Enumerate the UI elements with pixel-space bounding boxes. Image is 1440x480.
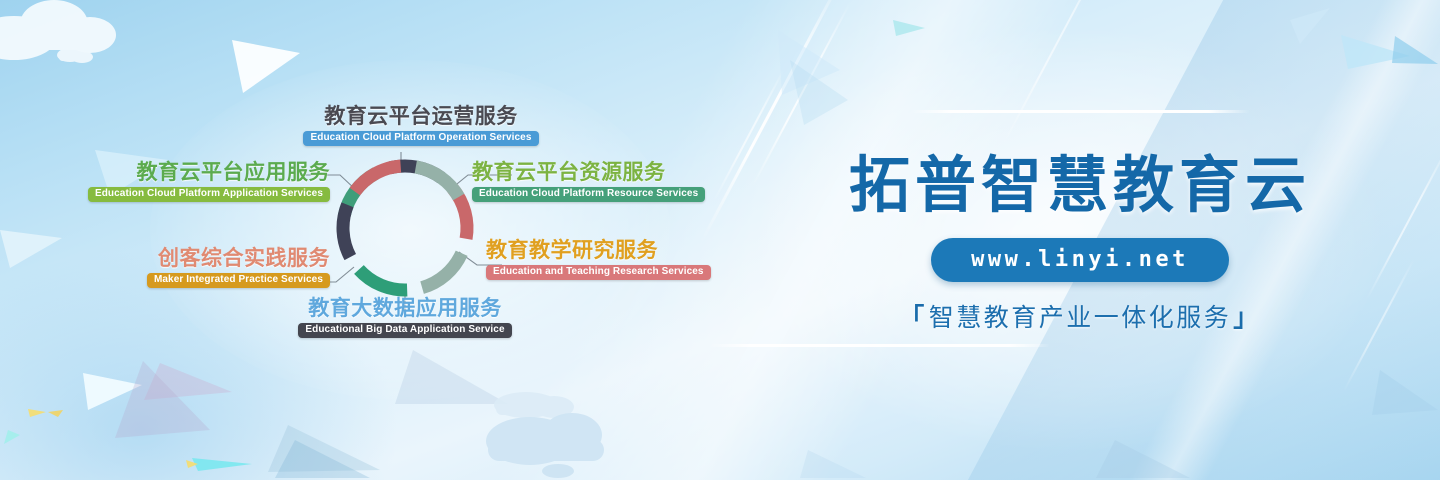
cloud-bottom-center <box>480 385 640 480</box>
brand-block: 拓普智慧教育云 www.linyi.net 「 智慧教育产业一体化服务 」 <box>770 110 1390 370</box>
cloud-top-left <box>0 0 172 80</box>
service-wheel-diagram: 教育云平台运营服务 Education Cloud Platform Opera… <box>150 100 690 360</box>
node-research[interactable]: 教育教学研究服务 Education and Teaching Research… <box>486 240 786 280</box>
node-bigdata-cn: 教育大数据应用服务 <box>308 298 502 319</box>
node-maker-cn: 创客综合实践服务 <box>158 248 330 269</box>
segment-left-upper <box>416 167 459 197</box>
node-bigdata[interactable]: 教育大数据应用服务 Educational Big Data Applicati… <box>260 298 550 338</box>
segment-bottom-right <box>359 269 407 290</box>
segment-bottom-left <box>343 205 350 257</box>
bracket-open-icon: 「 <box>899 298 927 334</box>
bracket-close-icon: 」 <box>1233 298 1261 334</box>
node-resource[interactable]: 教育云平台资源服务 Education Cloud Platform Resou… <box>472 162 772 202</box>
node-research-en: Education and Teaching Research Services <box>486 265 711 280</box>
divider-bottom <box>710 344 1050 347</box>
cloud-small-left <box>52 42 98 66</box>
brand-tagline: 「 智慧教育产业一体化服务 」 <box>899 298 1261 334</box>
node-resource-cn: 教育云平台资源服务 <box>472 162 666 183</box>
node-maker-en: Maker Integrated Practice Services <box>147 273 330 288</box>
node-research-cn: 教育教学研究服务 <box>486 240 658 261</box>
node-application-cn: 教育云平台应用服务 <box>137 162 331 183</box>
divider-top <box>910 110 1250 113</box>
node-bigdata-en: Educational Big Data Application Service <box>298 323 511 338</box>
node-operation-cn: 教育云平台运营服务 <box>324 106 518 127</box>
node-operation-en: Education Cloud Platform Operation Servi… <box>303 131 538 146</box>
website-url-badge[interactable]: www.linyi.net <box>931 238 1229 282</box>
node-maker[interactable]: 创客综合实践服务 Maker Integrated Practice Servi… <box>40 248 330 288</box>
node-application[interactable]: 教育云平台应用服务 Education Cloud Platform Appli… <box>30 162 330 202</box>
segment-left-lower <box>355 166 401 191</box>
brand-tagline-text: 智慧教育产业一体化服务 <box>929 298 1232 334</box>
hero-banner: 教育云平台运营服务 Education Cloud Platform Opera… <box>0 0 1440 480</box>
node-resource-en: Education Cloud Platform Resource Servic… <box>472 187 705 202</box>
node-application-en: Education Cloud Platform Application Ser… <box>88 187 330 202</box>
node-operation[interactable]: 教育云平台运营服务 Education Cloud Platform Opera… <box>276 106 566 146</box>
segment-right-lower <box>422 253 462 287</box>
brand-title: 拓普智慧教育云 <box>849 135 1311 224</box>
